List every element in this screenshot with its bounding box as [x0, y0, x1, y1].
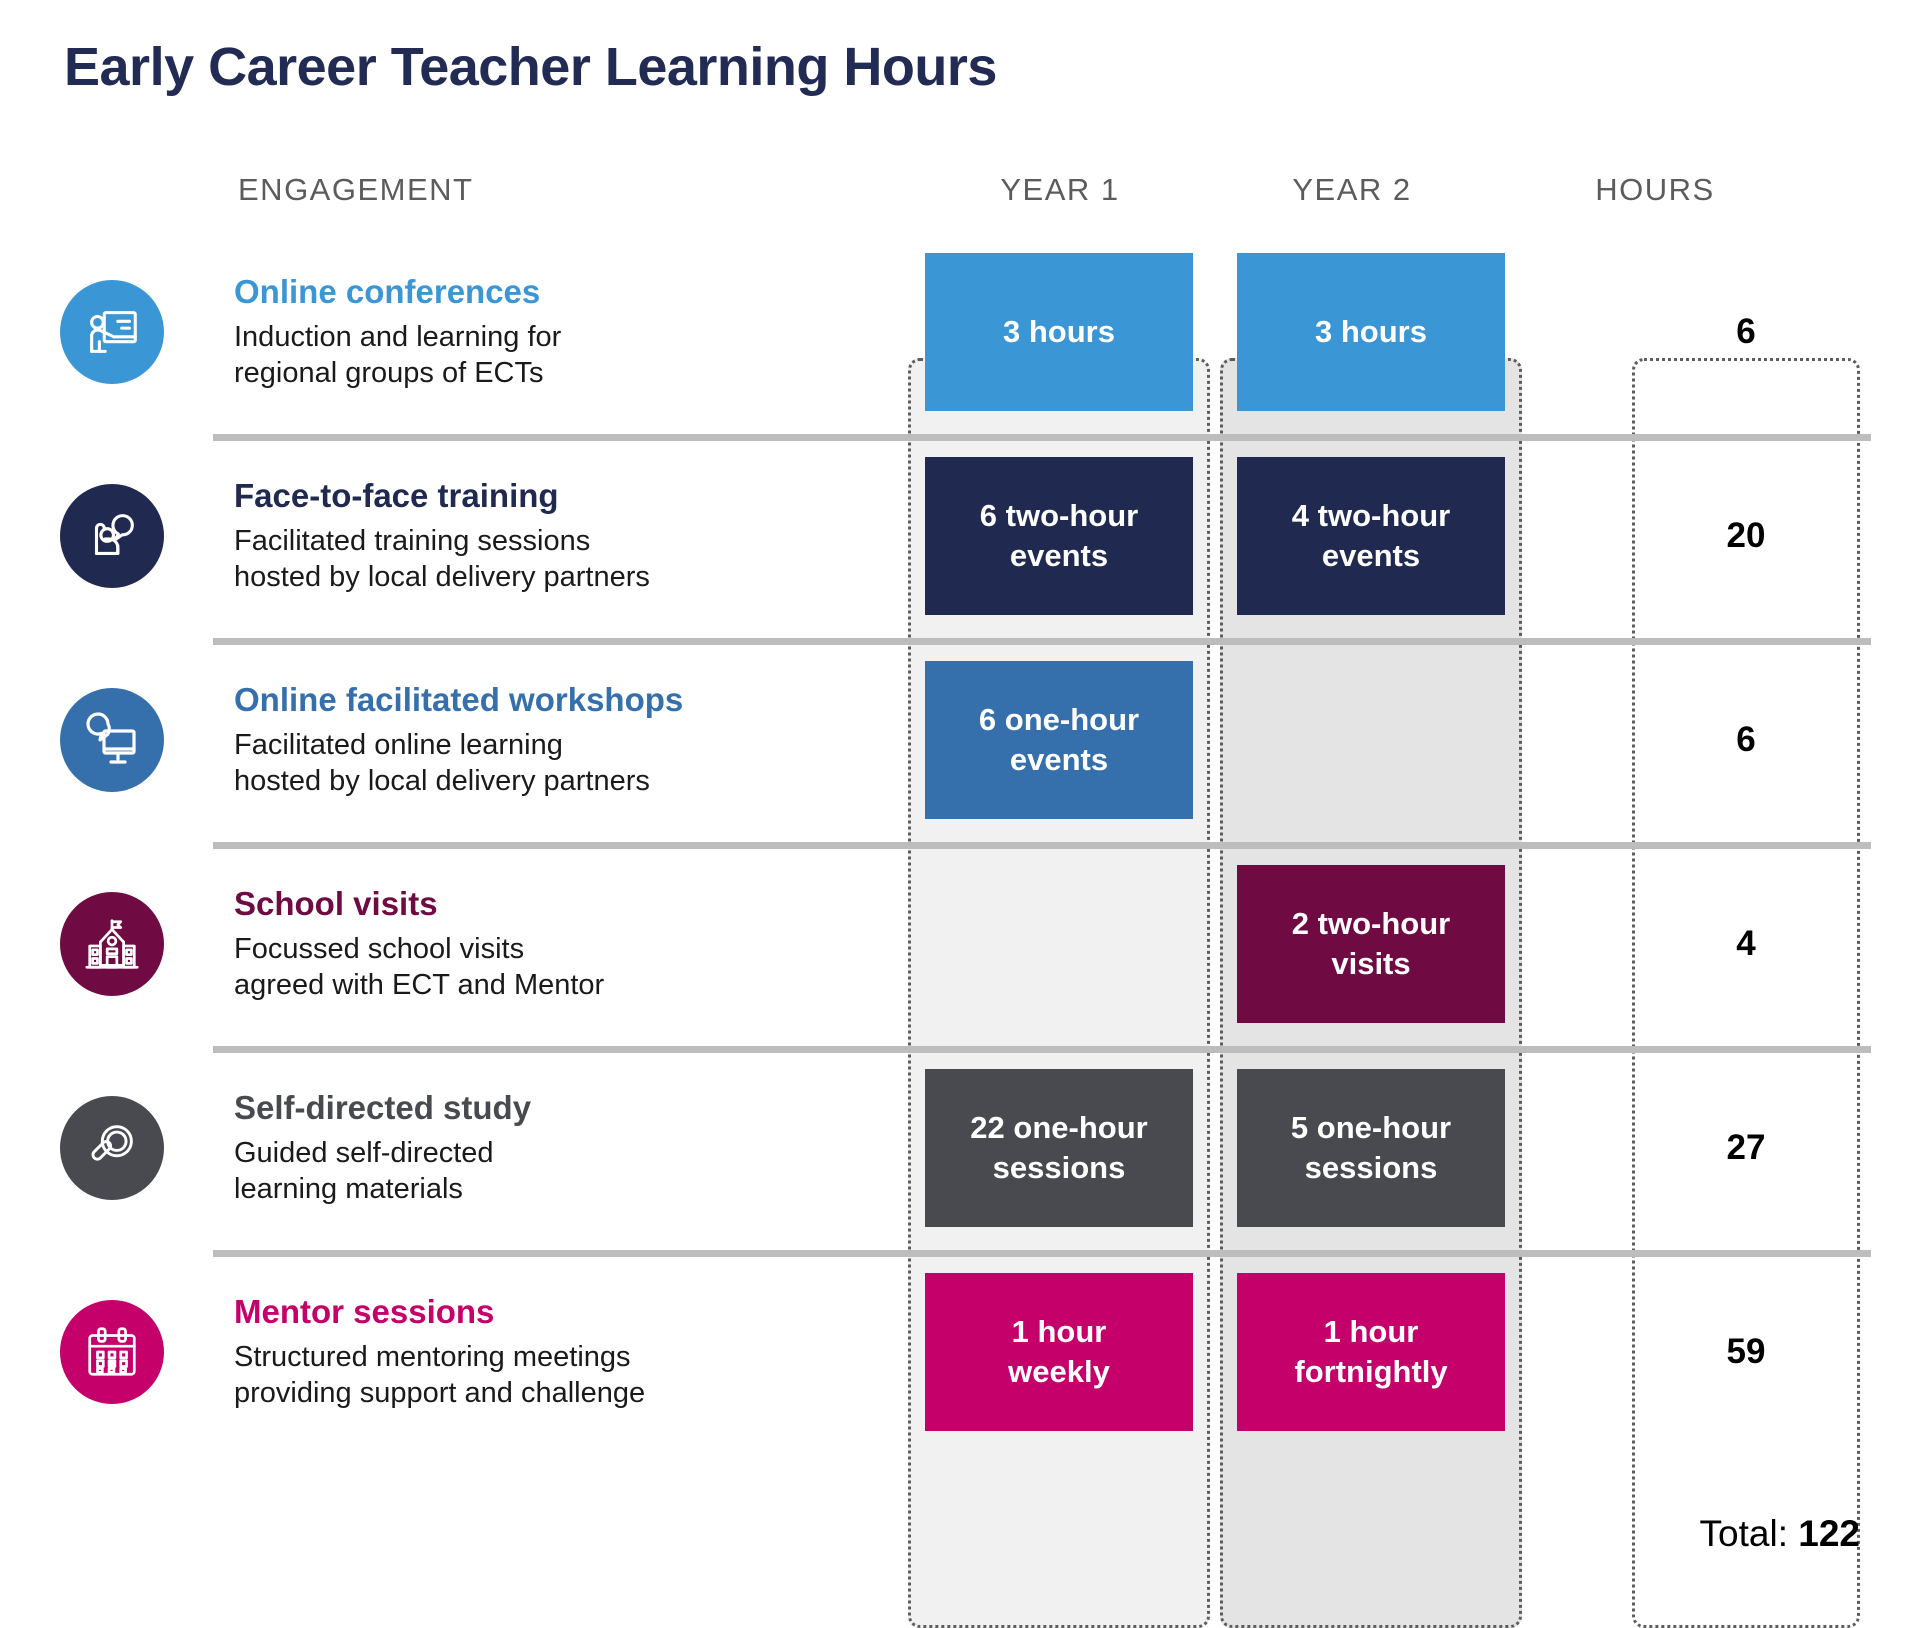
- row-title: Self-directed study: [234, 1089, 894, 1128]
- total-value: 122: [1798, 1513, 1860, 1554]
- table-row: Online facilitated workshops Facilitated…: [0, 638, 1920, 842]
- row-title: Mentor sessions: [234, 1293, 894, 1332]
- hours-cell-school-visits: 4: [1632, 924, 1860, 964]
- year2-cell-online-facilitated-workshops: [1237, 661, 1505, 819]
- page-title: Early Career Teacher Learning Hours: [64, 36, 997, 98]
- year2-cell-mentor-sessions: 1 hour fortnightly: [1237, 1273, 1505, 1431]
- year1-cell-face-to-face-training: 6 two-hour events: [925, 457, 1193, 615]
- row-text-school-visits: School visits Focussed school visits agr…: [234, 885, 894, 1003]
- row-divider: [213, 842, 1871, 849]
- row-text-mentor-sessions: Mentor sessions Structured mentoring mee…: [234, 1293, 894, 1411]
- row-icon-mentor-sessions: [60, 1300, 164, 1404]
- hours-cell-online-facilitated-workshops: 6: [1632, 720, 1860, 760]
- presenter-whiteboard-icon: [60, 280, 164, 384]
- column-header-hours: HOURS: [1505, 172, 1805, 208]
- person-speech-bubble-icon: [60, 484, 164, 588]
- column-header-year1: YEAR 1: [910, 172, 1210, 208]
- total-label: Total:: [1700, 1513, 1799, 1554]
- row-description: Structured mentoring meetings providing …: [234, 1339, 894, 1412]
- learning-hours-table: ENGAGEMENT YEAR 1 YEAR 2 HOURS Online: [0, 130, 1920, 1454]
- row-title: Online facilitated workshops: [234, 681, 894, 720]
- table-row: Self-directed study Guided self-directed…: [0, 1046, 1920, 1250]
- row-description: Induction and learning for regional grou…: [234, 319, 894, 392]
- row-text-self-directed-study: Self-directed study Guided self-directed…: [234, 1089, 894, 1207]
- row-icon-online-facilitated-workshops: [60, 688, 164, 792]
- row-description: Focussed school visits agreed with ECT a…: [234, 931, 894, 1004]
- year1-cell-school-visits: [925, 865, 1193, 1023]
- table-row: Mentor sessions Structured mentoring mee…: [0, 1250, 1920, 1454]
- row-divider: [213, 1046, 1871, 1053]
- year1-cell-self-directed-study: 22 one-hour sessions: [925, 1069, 1193, 1227]
- row-title: Online conferences: [234, 273, 894, 312]
- hours-cell-face-to-face-training: 20: [1632, 516, 1860, 556]
- row-icon-face-to-face-training: [60, 484, 164, 588]
- row-icon-school-visits: [60, 892, 164, 996]
- table-row: School visits Focussed school visits agr…: [0, 842, 1920, 1046]
- calendar-icon: [60, 1300, 164, 1404]
- table-body: Online conferences Induction and learnin…: [0, 230, 1920, 1454]
- row-description: Facilitated online learning hosted by lo…: [234, 727, 894, 800]
- total-row: Total: 122: [1700, 1513, 1860, 1555]
- hours-cell-self-directed-study: 27: [1632, 1128, 1860, 1168]
- column-header-year2: YEAR 2: [1202, 172, 1502, 208]
- year2-cell-online-conferences: 3 hours: [1237, 253, 1505, 411]
- table-header-row: ENGAGEMENT YEAR 1 YEAR 2 HOURS: [0, 130, 1920, 230]
- year1-cell-online-conferences: 3 hours: [925, 253, 1193, 411]
- row-icon-online-conferences: [60, 280, 164, 384]
- year1-cell-online-facilitated-workshops: 6 one-hour events: [925, 661, 1193, 819]
- column-header-engagement: ENGAGEMENT: [238, 172, 473, 208]
- row-description: Guided self-directed learning materials: [234, 1135, 894, 1208]
- row-text-face-to-face-training: Face-to-face training Facilitated traini…: [234, 477, 894, 595]
- row-description: Facilitated training sessions hosted by …: [234, 523, 894, 596]
- year2-cell-school-visits: 2 two-hour visits: [1237, 865, 1505, 1023]
- row-text-online-facilitated-workshops: Online facilitated workshops Facilitated…: [234, 681, 894, 799]
- school-building-icon: [60, 892, 164, 996]
- year2-cell-face-to-face-training: 4 two-hour events: [1237, 457, 1505, 615]
- row-icon-self-directed-study: [60, 1096, 164, 1200]
- row-title: School visits: [234, 885, 894, 924]
- row-divider: [213, 1250, 1871, 1257]
- monitor-speech-bubble-icon: [60, 688, 164, 792]
- hours-cell-online-conferences: 6: [1632, 312, 1860, 352]
- year2-cell-self-directed-study: 5 one-hour sessions: [1237, 1069, 1505, 1227]
- table-row: Face-to-face training Facilitated traini…: [0, 434, 1920, 638]
- table-row: Online conferences Induction and learnin…: [0, 230, 1920, 434]
- hours-cell-mentor-sessions: 59: [1632, 1332, 1860, 1372]
- year1-cell-mentor-sessions: 1 hour weekly: [925, 1273, 1193, 1431]
- row-text-online-conferences: Online conferences Induction and learnin…: [234, 273, 894, 391]
- row-divider: [213, 638, 1871, 645]
- magnifying-glass-icon: [60, 1096, 164, 1200]
- row-divider: [213, 434, 1871, 441]
- row-title: Face-to-face training: [234, 477, 894, 516]
